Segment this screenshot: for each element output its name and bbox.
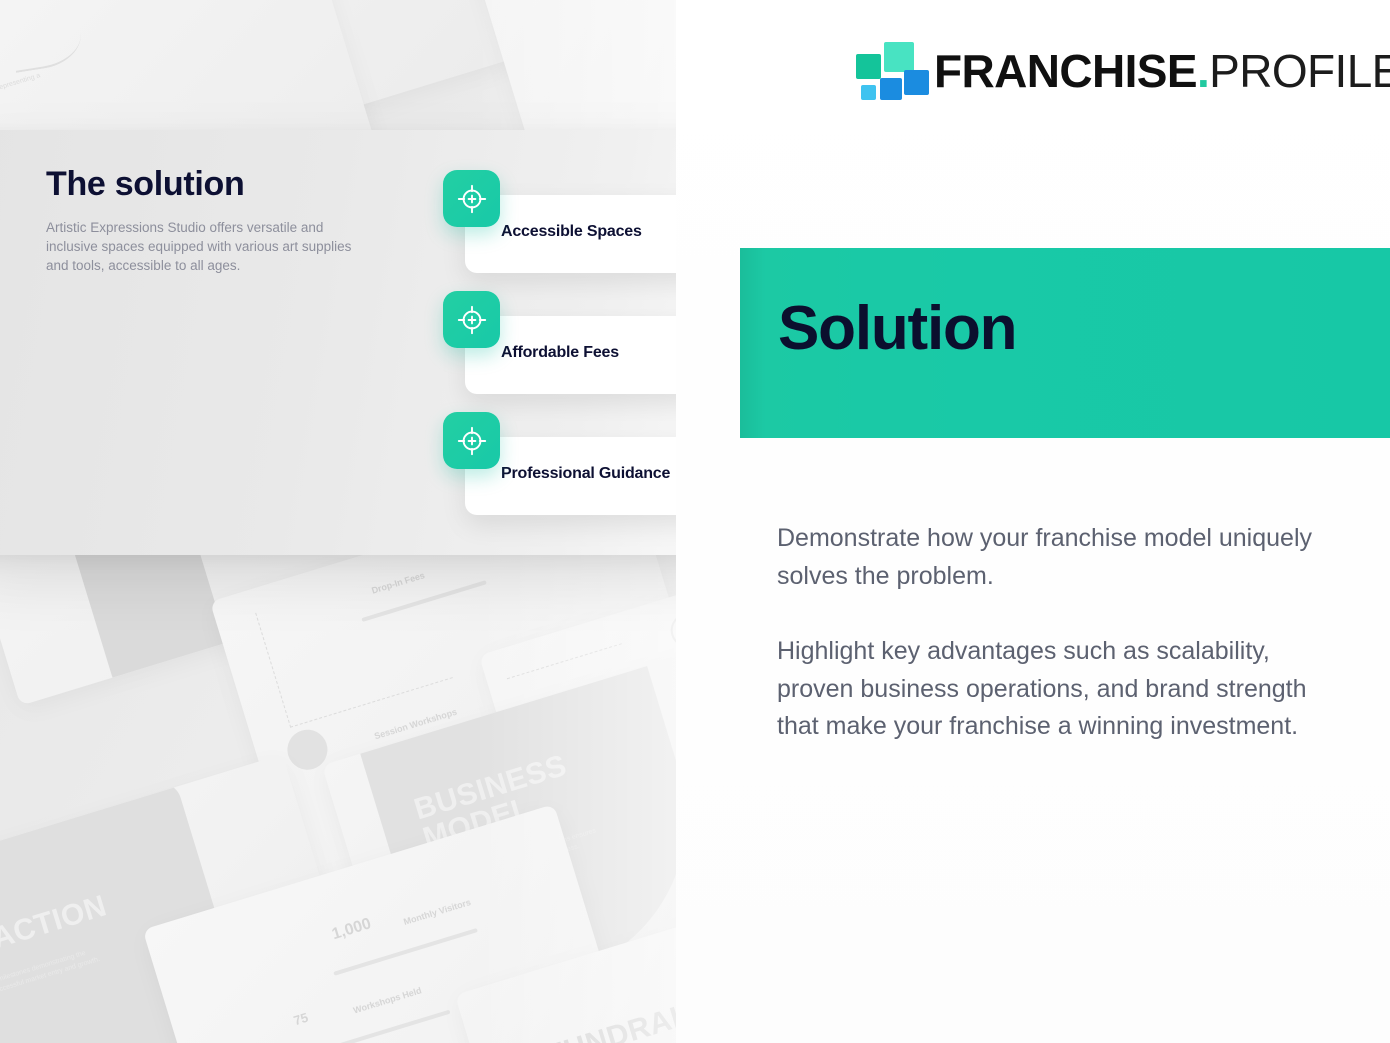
logo-squares-mark [852,40,912,102]
ghost-slide-title: FUNDRAISING [542,979,676,1043]
feature-label: Professional Guidance [501,465,670,483]
crosshair-target-icon [443,291,500,348]
ghost-metric-label: Monthly Visitors [402,897,472,927]
crosshair-target-icon [443,412,500,469]
logo-separator-dot: . [1197,45,1209,97]
slide-canvas: pitch deck spaces in urban and rural are… [0,0,1390,1043]
logo-square-blue-small [880,78,902,100]
ghost-slide-body: spaces in urban and rural areas, represe… [0,70,48,133]
logo-square-teal-dark [856,54,881,79]
logo-word-profiles: PROFILES [1209,45,1390,97]
section-paragraph-1: Demonstrate how your franchise model uni… [777,520,1317,595]
logo-wordmark: FRANCHISE.PROFILES [934,48,1390,94]
section-paragraph-2: Highlight key advantages such as scalabi… [777,633,1317,746]
ghost-metric-value: 1,000 [330,915,374,944]
ghost-label: Lack of Accessibility [669,0,676,2]
slide-preview-heading: The solution [46,165,245,204]
feature-label: Affordable Fees [501,344,619,362]
feature-label: Accessible Spaces [501,223,642,241]
ghost-metric-label: Workshops Held [352,985,423,1015]
logo-square-blue [904,70,929,95]
brand-logo[interactable]: FRANCHISE.PROFILES [852,40,1390,102]
logo-square-cyan [861,85,876,100]
slide-preview-subtext: Artistic Expressions Studio offers versa… [46,218,366,275]
logo-square-teal-light [884,42,914,72]
right-content-panel: FRANCHISE.PROFILES Solution Demonstrate … [676,0,1390,1043]
crosshair-target-icon [443,170,500,227]
ghost-metric-value: 75 [292,1010,310,1029]
logo-word-franchise: FRANCHISE [934,45,1197,97]
section-title: Solution [778,298,1016,360]
section-title-band: Solution [740,248,1390,438]
